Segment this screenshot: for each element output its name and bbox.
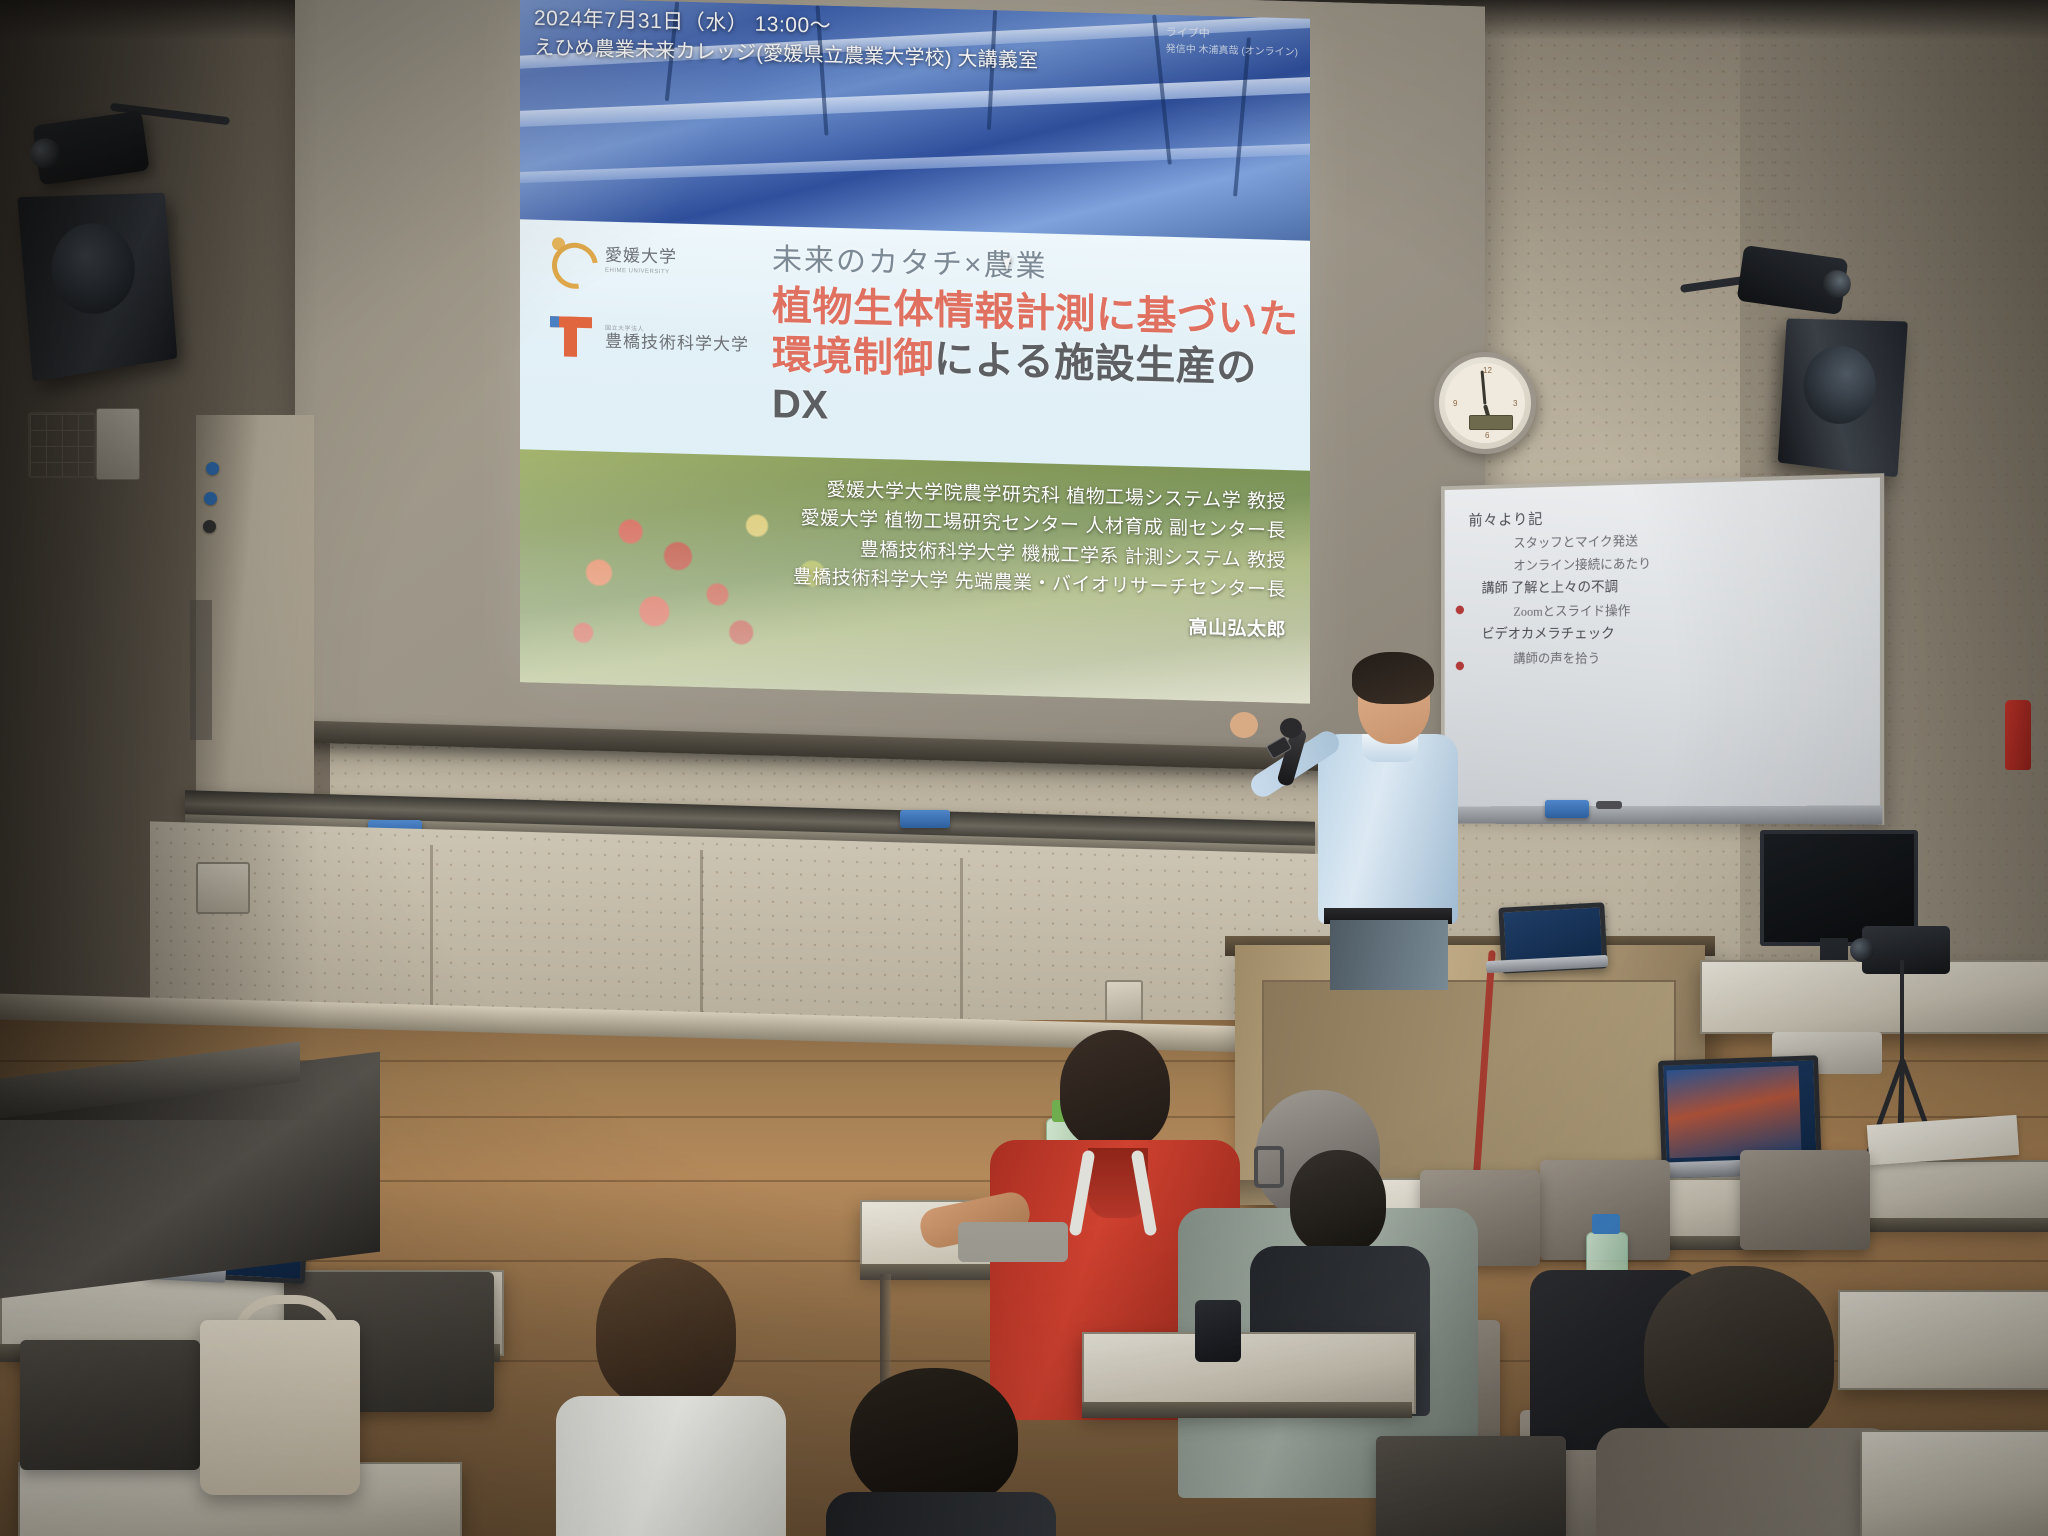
presenter-hand-pointing — [1230, 712, 1258, 738]
board-eraser[interactable] — [900, 810, 950, 828]
attendee-head — [1290, 1150, 1386, 1254]
whiteboard-marker-tray — [1437, 806, 1882, 825]
attendee-dark-hair — [826, 1368, 1056, 1536]
logo-ehime-en: EHIME UNIVERSITY — [605, 268, 677, 276]
slide-title-line-2-red: 環境制御 — [772, 333, 934, 381]
monitor-stand — [1820, 938, 1848, 960]
wall-grille-box — [28, 412, 96, 478]
ehime-swirl-icon — [546, 234, 596, 285]
whiteboard-line: Zoomとスライド操作 — [1469, 599, 1823, 624]
speaker-cone-icon — [1801, 344, 1878, 427]
presenter-hair — [1352, 652, 1434, 704]
attendee-head — [1060, 1030, 1170, 1150]
greenhouse-beam — [520, 74, 1310, 128]
slide-title-band: 愛媛大学 EHIME UNIVERSITY 国立大学法人 豊橋 — [520, 219, 1310, 480]
logo-toyohashi-tech: 国立大学法人 豊橋技術科学大学 — [546, 310, 756, 366]
attendee-head — [1644, 1266, 1834, 1446]
ceiling-speaker-left — [17, 193, 177, 382]
attendee-head — [596, 1258, 736, 1408]
whiteboard-line: ビデオカメラチェック — [1469, 622, 1823, 647]
camcorder-lens-icon — [1850, 938, 1874, 962]
tote-bag — [200, 1320, 360, 1495]
chair[interactable] — [1376, 1436, 1566, 1536]
indicator-dot — [204, 492, 217, 505]
slide-top-right-note: ライブ中 発信中 木浦真哉 (オンライン) — [1166, 25, 1298, 60]
projected-slide: 2024年7月31日（水） 13:00〜 えひめ農業未来カレッジ(愛媛県立農業大… — [520, 0, 1310, 704]
greenhouse-beam — [520, 141, 1310, 183]
desk-edge — [1082, 1402, 1412, 1418]
chair[interactable] — [20, 1340, 200, 1470]
camcorder[interactable] — [1862, 926, 1950, 974]
whiteboard-bullet — [1456, 606, 1464, 615]
clock-face: 12 3 6 9 — [1445, 363, 1525, 443]
attendee-torso — [826, 1492, 1056, 1536]
chair[interactable] — [1740, 1150, 1870, 1250]
logo-ehime-label: 愛媛大学 — [605, 247, 677, 267]
slide-photo-tomato-bottom: 愛媛大学大学院農学研究科 植物工場システム学 教授 愛媛大学 植物工場研究センタ… — [520, 449, 1310, 703]
board-eraser[interactable] — [1545, 800, 1589, 818]
whiteboard-eraser[interactable] — [1596, 801, 1622, 809]
attendee-white-top — [556, 1258, 786, 1536]
wall-outlet[interactable] — [196, 862, 250, 914]
attendee-curly-hair — [1596, 1266, 1896, 1536]
smartphone[interactable] — [1195, 1300, 1241, 1362]
lecture-hall-screenshot: 2024年7月31日（水） 13:00〜 えひめ農業未来カレッジ(愛媛県立農業大… — [0, 0, 2048, 1536]
slide-title-text: 未来のカタチ×農業 植物生体情報計測に基づいた 環境制御による施設生産のDX — [772, 234, 1302, 443]
wall-switch-plate[interactable] — [96, 408, 140, 480]
ceiling-speaker-right — [1778, 318, 1908, 477]
slide-affiliations: 愛媛大学大学院農学研究科 植物工場システム学 教授 愛媛大学 植物工場研究センタ… — [793, 475, 1286, 646]
presenter-legs — [1330, 920, 1448, 990]
wall-clock: 12 3 6 9 — [1434, 352, 1536, 454]
presenter — [1300, 660, 1470, 980]
slide-title-line-2: 環境制御による施設生産のDX — [772, 331, 1302, 443]
desk-far-right-2 — [1860, 1430, 2048, 1536]
speaker-cone-icon — [48, 221, 138, 318]
desk-paper[interactable] — [958, 1222, 1068, 1262]
presenter-torso — [1318, 734, 1458, 924]
fire-extinguisher — [2005, 700, 2031, 770]
logo-ehime-university: 愛媛大学 EHIME UNIVERSITY — [546, 234, 756, 290]
wall-column-shadow — [190, 600, 212, 740]
tut-t-icon — [546, 310, 596, 361]
attendee-head — [850, 1368, 1018, 1508]
slide-logos: 愛媛大学 EHIME UNIVERSITY 国立大学法人 豊橋 — [546, 234, 756, 392]
whiteboard-notes: 前々より記 スタッフとマイク発送 オンライン接続にあたり 講師 了解と上々の不調… — [1469, 500, 1823, 671]
whiteboard-line: 講師の声を拾う — [1469, 647, 1823, 670]
logo-tut-label: 豊橋技術科学大学 — [605, 332, 749, 354]
attendee-torso — [1596, 1428, 1896, 1536]
indicator-dot — [206, 462, 219, 475]
indicator-dot — [203, 520, 216, 533]
microphone-head-icon — [1280, 718, 1302, 738]
clock-digital-display — [1469, 415, 1513, 430]
vine — [1233, 37, 1251, 196]
attendee-torso — [556, 1396, 786, 1536]
laptop-screen-content — [1667, 1066, 1802, 1159]
bottle-cap[interactable] — [1592, 1214, 1620, 1234]
whiteboard-line: 講師 了解と上々の不調 — [1469, 574, 1823, 602]
clock-minute-hand — [1481, 370, 1487, 404]
whiteboard: 前々より記 スタッフとマイク発送 オンライン接続にあたり 講師 了解と上々の不調… — [1441, 473, 1884, 825]
